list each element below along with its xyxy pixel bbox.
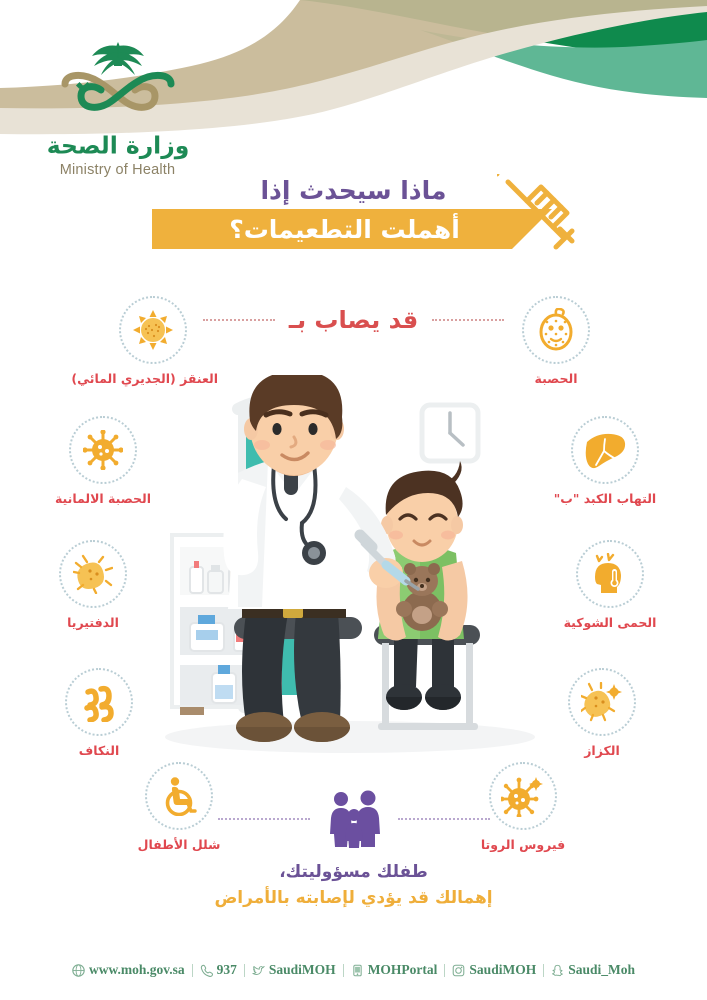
wall-clock xyxy=(422,405,478,461)
disease-node-mumps[interactable]: النكاف xyxy=(34,668,164,758)
tetanus-bacteria-icon xyxy=(581,682,623,722)
app-icon xyxy=(351,964,364,977)
message-line1: طفلك مسؤوليتك، xyxy=(0,862,707,882)
twitter-icon xyxy=(252,964,265,977)
disease-ring xyxy=(119,296,187,364)
disease-ring xyxy=(65,668,133,736)
disease-label: التهاب الكبد "ب" xyxy=(540,491,670,506)
chickenpox-virus-icon xyxy=(132,309,174,351)
footer-item-portal[interactable]: MOHPortal xyxy=(344,962,445,978)
disease-ring xyxy=(69,416,137,484)
disease-node-measles[interactable]: الحصبة xyxy=(491,296,621,386)
family-dotted-line-left xyxy=(218,818,310,820)
logo-arabic-text: وزارة الصحة xyxy=(46,131,189,159)
disease-ring xyxy=(571,416,639,484)
footer-item-website[interactable]: www.moh.gov.sa xyxy=(65,962,192,978)
phone-icon xyxy=(200,964,213,977)
disease-label: الحمى الشوكية xyxy=(545,615,675,630)
disease-label: النكاف xyxy=(34,743,164,758)
liver-hepatitis-icon xyxy=(584,431,626,469)
mumps-bacteria-icon xyxy=(79,682,119,722)
footer-contact-bar: www.moh.gov.sa 937 SaudiMOH MOHPortal Sa… xyxy=(0,962,707,978)
disease-label: الكزاز xyxy=(537,743,667,758)
footer-instagram-text: SaudiMOH xyxy=(469,962,536,978)
footer-twitter-text: SaudiMOH xyxy=(269,962,336,978)
family-icon xyxy=(326,790,382,848)
title-banner: أهملت التطعيمات؟ xyxy=(0,209,707,249)
meningitis-head-fever-icon xyxy=(589,553,631,595)
disease-node-tetanus[interactable]: الكزاز xyxy=(537,668,667,758)
disease-node-meningitis[interactable]: الحمى الشوكية xyxy=(545,540,675,630)
diphtheria-bacteria-icon xyxy=(73,554,113,594)
doctor-vaccinating-child-illustration xyxy=(150,375,550,760)
footer-item-snapchat[interactable]: Saudi_Moh xyxy=(544,962,642,978)
globe-icon xyxy=(72,964,85,977)
subtitle-text: قد يصاب بـ xyxy=(289,306,418,334)
disease-ring xyxy=(576,540,644,608)
syringe-icon xyxy=(497,174,577,264)
page-title-line2: أهملت التطعيمات؟ xyxy=(0,209,707,249)
disease-label: الحصبة xyxy=(491,371,621,386)
rubella-virus-icon xyxy=(83,430,123,470)
disease-node-diphtheria[interactable]: الدفتيريا xyxy=(28,540,158,630)
footer-item-twitter[interactable]: SaudiMOH xyxy=(245,962,343,978)
family-dotted-line-right xyxy=(398,818,490,820)
disease-ring xyxy=(568,668,636,736)
moh-arabic-wordmark: وزارة الصحة xyxy=(43,130,193,160)
page-title-line1: ماذا سيحدث إذا xyxy=(0,176,707,205)
disease-label: الحصبة الالمانية xyxy=(38,491,168,506)
message-line2: إهمالك قد يؤدي لإصابته بالأمراض xyxy=(0,888,707,908)
child xyxy=(374,461,480,730)
closing-message: طفلك مسؤوليتك، إهمالك قد يؤدي لإصابته با… xyxy=(0,862,707,908)
moh-emblem-icon xyxy=(43,38,193,128)
footer-snapchat-text: Saudi_Moh xyxy=(568,962,635,978)
footer-phone-text: 937 xyxy=(217,962,237,978)
disease-ring xyxy=(522,296,590,364)
title-block: ماذا سيحدث إذا أهملت التطعيمات؟ xyxy=(0,176,707,271)
footer-website-text: www.moh.gov.sa xyxy=(89,962,185,978)
family-row xyxy=(0,788,707,850)
footer-item-instagram[interactable]: SaudiMOH xyxy=(445,962,543,978)
disease-node-chickenpox[interactable]: العنقز (الجديري المائي) xyxy=(88,296,218,386)
disease-ring xyxy=(59,540,127,608)
snapchat-icon xyxy=(551,964,564,977)
disease-node-hepatitis-b[interactable]: التهاب الكبد "ب" xyxy=(540,416,670,506)
disease-label: العنقز (الجديري المائي) xyxy=(88,371,218,386)
footer-item-phone[interactable]: 937 xyxy=(193,962,244,978)
instagram-icon xyxy=(452,964,465,977)
footer-portal-text: MOHPortal xyxy=(368,962,438,978)
disease-node-rubella[interactable]: الحصبة الالمانية xyxy=(38,416,168,506)
disease-label: الدفتيريا xyxy=(28,615,158,630)
measles-face-icon xyxy=(536,308,576,352)
moh-logo: وزارة الصحة Ministry of Health xyxy=(30,38,205,178)
